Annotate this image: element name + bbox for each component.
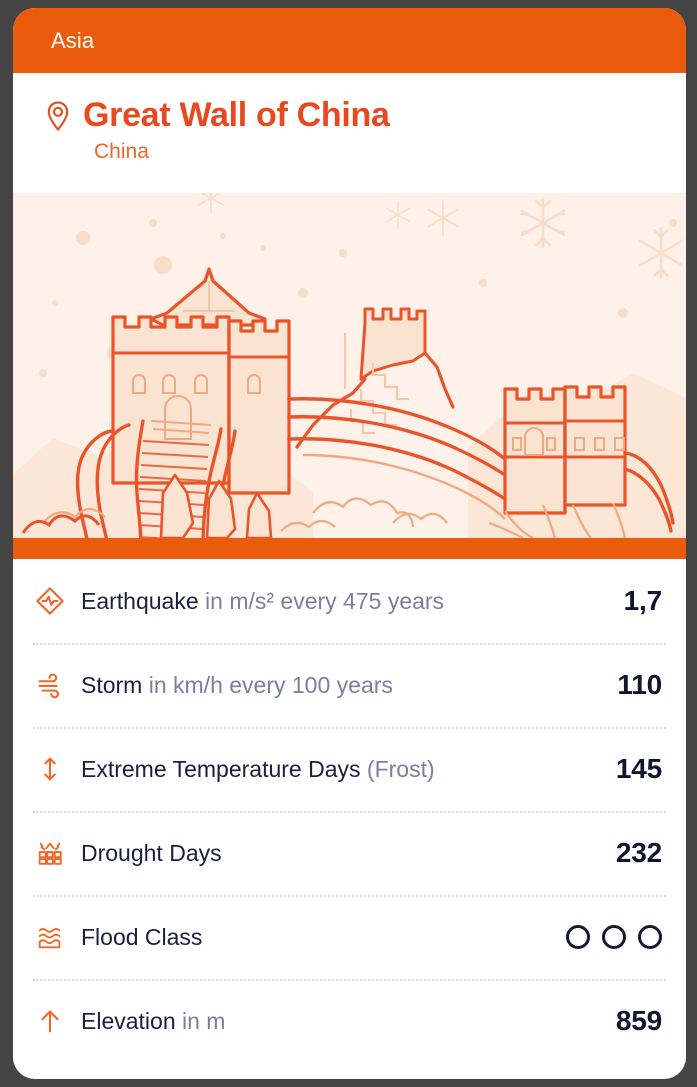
flood-class-dot (638, 925, 662, 949)
flood-waves-icon (33, 920, 67, 954)
stat-row[interactable]: Elevation in m 859 (13, 979, 686, 1063)
stat-label: Extreme Temperature Days (Frost) (81, 756, 616, 783)
storm-wind-icon (33, 668, 67, 702)
stat-value: 859 (616, 1005, 662, 1037)
stat-label: Storm in km/h every 100 years (81, 672, 617, 699)
page-title: Great Wall of China (83, 95, 390, 135)
stat-label-unit: in km/h every 100 years (142, 672, 393, 698)
stat-label-unit: in m/s² every 475 years (199, 588, 444, 614)
stat-value: 1,7 (624, 585, 662, 617)
stat-row[interactable]: Earthquake in m/s² every 475 years 1,7 (13, 559, 686, 643)
earthquake-icon (33, 584, 67, 618)
stat-value: 232 (616, 837, 662, 869)
region-bar: Asia (13, 8, 686, 73)
stat-row[interactable]: Storm in km/h every 100 years 110 (13, 643, 686, 727)
flood-class-dot (602, 925, 626, 949)
temperature-arrows-icon (33, 752, 67, 786)
stat-row[interactable]: Extreme Temperature Days (Frost) 145 (13, 727, 686, 811)
title-row: Great Wall of China (45, 95, 686, 135)
location-pin-icon (45, 101, 71, 131)
stat-label-main: Drought Days (81, 840, 222, 866)
drought-cracked-earth-icon (33, 836, 67, 870)
stat-value: 110 (617, 669, 662, 701)
hazard-stats-list: Earthquake in m/s² every 475 years 1,7 S… (13, 559, 686, 1063)
region-label: Asia (51, 28, 94, 54)
stat-label-main: Earthquake (81, 588, 199, 614)
stat-label-unit: in m (176, 1008, 226, 1034)
device-frame: Asia Great Wall of China China (0, 0, 697, 1087)
stat-label-main: Storm (81, 672, 142, 698)
title-block: Great Wall of China China (13, 73, 686, 193)
elevation-arrow-up-icon (33, 1004, 67, 1038)
great-wall-illustration (13, 193, 686, 538)
country-label: China (94, 139, 686, 165)
stat-label: Flood Class (81, 924, 566, 951)
stat-label-main: Extreme Temperature Days (81, 756, 361, 782)
stat-label-unit: (Frost) (361, 756, 435, 782)
stat-row[interactable]: Flood Class (13, 895, 686, 979)
stat-label: Drought Days (81, 840, 616, 867)
stat-label-main: Flood Class (81, 924, 202, 950)
accent-bar (13, 538, 686, 559)
flood-class-dots (566, 925, 662, 949)
stat-value: 145 (616, 753, 662, 785)
stat-label: Earthquake in m/s² every 475 years (81, 588, 624, 615)
hazard-info-card: Asia Great Wall of China China (13, 8, 686, 1079)
stat-row[interactable]: Drought Days 232 (13, 811, 686, 895)
stat-label-main: Elevation (81, 1008, 176, 1034)
flood-class-dot (566, 925, 590, 949)
stat-label: Elevation in m (81, 1008, 616, 1035)
